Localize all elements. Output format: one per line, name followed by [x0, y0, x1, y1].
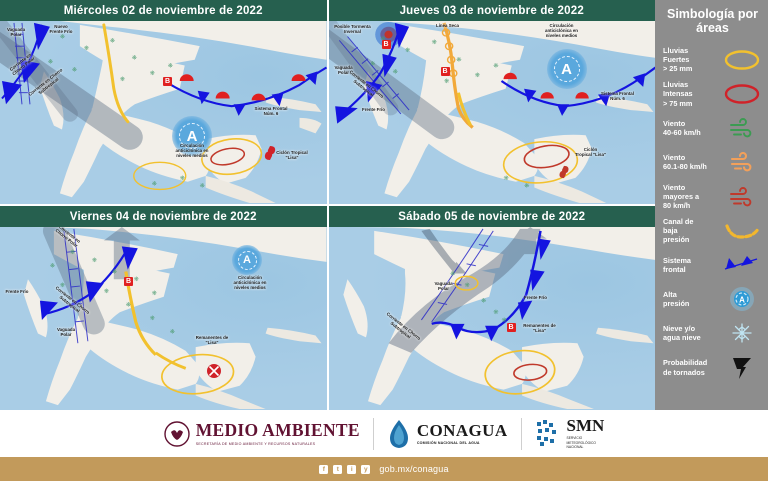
- legend-label: Probabilidad de tornados: [663, 358, 719, 376]
- map-label: Circulación anticiclónica en niveles med…: [224, 275, 276, 291]
- logo-medio-ambiente: MEDIO AMBIENTE SECRETARÍA DE MEDIO AMBIE…: [164, 421, 360, 447]
- panel-title-saturday: Sábado 05 de noviembre de 2022: [329, 206, 656, 227]
- map-label: Vaguada Polar: [429, 281, 459, 291]
- map-label: Posible Tormenta Invernal: [331, 24, 375, 34]
- svg-text:❋: ❋: [456, 57, 461, 64]
- trough-dashed-icon: [722, 217, 762, 245]
- map-canvas-wednesday: ❋❋❋ ❋❋❋ ❋❋❋ ❋❋❋ B A Corriente en Chorro …: [0, 21, 327, 204]
- svg-text:❋: ❋: [431, 39, 436, 46]
- low-pressure-marker-b: B: [441, 67, 450, 76]
- anticyclone-symbol: A: [547, 49, 587, 89]
- eagle-seal-icon: [164, 421, 190, 447]
- wind-orange-icon: [722, 148, 762, 176]
- map-label: Frente Frío: [2, 289, 32, 294]
- tropical-cyclone-icon: [262, 143, 278, 163]
- twitter-icon[interactable]: t: [333, 465, 342, 474]
- svg-text:❋: ❋: [152, 290, 157, 297]
- map-label: Circulación anticiclónica en niveles med…: [535, 23, 589, 39]
- svg-text:❋: ❋: [168, 63, 173, 70]
- map-graphics-thursday: ❋❋❋ ❋❋❋ ❋❋❋ ❋❋: [329, 21, 656, 204]
- map-panel-thursday[interactable]: Jueves 03 de noviembre de 2022: [329, 0, 656, 204]
- map-label: Línea Seca: [433, 23, 463, 28]
- map-canvas-saturday: ❋❋❋ ❋❋ B Vaguada Polar Corriente en Chor…: [329, 227, 656, 410]
- map-label: Remanentes de "Lisa": [188, 335, 236, 345]
- ellipse-red-icon: [722, 80, 762, 108]
- svg-text:❋: ❋: [370, 61, 375, 68]
- weather-forecast-infographic: Miércoles 02 de noviembre de 2022: [0, 0, 768, 481]
- high-pressure-icon: A: [722, 285, 762, 313]
- svg-text:❋: ❋: [120, 76, 125, 83]
- svg-text:❋: ❋: [493, 309, 498, 316]
- map-canvas-thursday: ❋❋❋ ❋❋❋ ❋❋❋ ❋❋ B B A Posible Tormenta: [329, 21, 656, 204]
- svg-text:❋: ❋: [200, 183, 205, 190]
- svg-text:❋: ❋: [104, 288, 109, 295]
- svg-text:❋: ❋: [180, 175, 185, 182]
- legend-label: Alta presión: [663, 290, 719, 308]
- legend-item-viento-80plus[interactable]: Viento mayores a 80 km/h: [663, 180, 762, 214]
- svg-text:❋: ❋: [134, 276, 139, 283]
- anticyclone-symbol: A: [232, 245, 262, 275]
- logo-conagua: CONAGUA COMISIÓN NACIONAL DEL AGUA: [387, 419, 508, 449]
- legend-item-tornados[interactable]: Probabilidad de tornados: [663, 350, 762, 384]
- legend-label: Viento 40-60 km/h: [663, 119, 719, 137]
- legend-item-alta-presion[interactable]: Alta presión A: [663, 282, 762, 316]
- map-label: Frente Frío: [521, 295, 551, 300]
- map-graphics-saturday: ❋❋❋ ❋❋: [329, 227, 656, 410]
- svg-text:❋: ❋: [443, 78, 448, 85]
- map-panel-friday[interactable]: Viernes 04 de noviembre de 2022: [0, 206, 327, 410]
- map-label: Sistema Frontal Núm. 6: [595, 91, 641, 101]
- ellipse-yellow-icon: [722, 46, 762, 74]
- svg-text:❋: ❋: [50, 263, 55, 270]
- footer-logos: MEDIO AMBIENTE SECRETARÍA DE MEDIO AMBIE…: [0, 410, 768, 457]
- panel-title-friday: Viernes 04 de noviembre de 2022: [0, 206, 327, 227]
- logo-divider: [373, 418, 374, 450]
- legend-item-viento-60-80[interactable]: Viento 60.1-80 km/h: [663, 145, 762, 179]
- svg-text:❋: ❋: [72, 66, 77, 73]
- svg-text:❋: ❋: [474, 72, 479, 79]
- legend-item-lluvias-intensas[interactable]: Lluvias Intensas > 75 mm: [663, 77, 762, 111]
- map-label: Nuevo Frente Frío: [44, 24, 78, 34]
- map-canvas-friday: ❋❋❋ ❋❋❋ ❋❋❋ ❋❋ B A Corriente en Chorro P…: [0, 227, 327, 410]
- conagua-subtitle: COMISIÓN NACIONAL DEL AGUA: [417, 441, 508, 445]
- map-label: Frente Frío: [359, 107, 389, 112]
- map-label: Circulación anticiclónica en niveles med…: [163, 143, 221, 159]
- facebook-icon[interactable]: f: [319, 465, 328, 474]
- legend-label: Sistema frontal: [663, 256, 719, 274]
- cold-front-icon: [722, 251, 762, 279]
- panel-title-wednesday: Miércoles 02 de noviembre de 2022: [0, 0, 327, 21]
- map-graphics-friday: ❋❋❋ ❋❋❋ ❋❋❋ ❋❋: [0, 227, 327, 410]
- map-label: Vaguada Polar: [2, 27, 30, 37]
- logo-divider: [521, 418, 522, 450]
- svg-text:❋: ❋: [450, 271, 455, 278]
- svg-text:❋: ❋: [392, 68, 397, 75]
- website-url[interactable]: gob.mx/conagua: [379, 464, 448, 474]
- svg-text:❋: ❋: [112, 269, 117, 276]
- legend-label: Lluvias Intensas > 75 mm: [663, 80, 719, 107]
- svg-text:❋: ❋: [170, 329, 175, 336]
- svg-text:❋: ❋: [126, 301, 131, 308]
- svg-text:❋: ❋: [84, 45, 89, 52]
- legend-label: Viento mayores a 80 km/h: [663, 183, 719, 210]
- snowflake-icon: [722, 319, 762, 347]
- maps-grid: Miércoles 02 de noviembre de 2022: [0, 0, 655, 410]
- smn-title: SMN: [567, 417, 605, 434]
- map-panel-wednesday[interactable]: Miércoles 02 de noviembre de 2022: [0, 0, 327, 204]
- tornado-icon: [722, 354, 762, 382]
- low-pressure-marker-b: B: [507, 323, 516, 332]
- svg-text:❋: ❋: [150, 315, 155, 322]
- smn-glyph-icon: [535, 419, 561, 447]
- map-label: Sistema Frontal Núm. 6: [248, 106, 294, 116]
- legend-item-viento-40-60[interactable]: Viento 40-60 km/h: [663, 111, 762, 145]
- low-pressure-marker-b: B: [163, 77, 172, 86]
- panel-title-thursday: Jueves 03 de noviembre de 2022: [329, 0, 656, 21]
- legend-title: Simbología por áreas: [663, 7, 762, 36]
- map-label: Ciclón Tropical "Lisa": [569, 147, 613, 157]
- legend-panel: Simbología por áreas Lluvias Fuertes > 2…: [655, 0, 768, 410]
- wind-green-icon: [722, 114, 762, 142]
- svg-text:❋: ❋: [60, 34, 65, 41]
- legend-label: Canal de baja presión: [663, 217, 719, 244]
- map-label: Vaguada Polar: [52, 327, 80, 337]
- svg-text:❋: ❋: [110, 37, 115, 44]
- bottom-social-bar: f t i y gob.mx/conagua: [0, 457, 768, 481]
- map-panel-saturday[interactable]: Sábado 05 de noviembre de 2022: [329, 206, 656, 410]
- svg-text:❋: ❋: [404, 47, 409, 54]
- svg-text:❋: ❋: [480, 298, 485, 305]
- svg-text:❋: ❋: [524, 183, 529, 190]
- low-pressure-marker-b: B: [124, 277, 133, 286]
- svg-text:❋: ❋: [132, 55, 137, 62]
- svg-text:❋: ❋: [152, 181, 157, 188]
- legend-item-lluvias-fuertes[interactable]: Lluvias Fuertes > 25 mm: [663, 43, 762, 77]
- remnant-low-icon: [206, 363, 222, 379]
- anticyclone-ring: [238, 251, 257, 270]
- tropical-cyclone-icon: [557, 163, 571, 181]
- svg-text:❋: ❋: [501, 317, 506, 324]
- svg-text:❋: ❋: [48, 59, 53, 66]
- map-label: Remanentes de "Lisa": [515, 323, 565, 333]
- low-pressure-marker-b: B: [382, 40, 391, 49]
- svg-text:❋: ❋: [92, 257, 97, 264]
- svg-text:❋: ❋: [150, 70, 155, 77]
- svg-text:❋: ❋: [70, 249, 75, 256]
- anticyclone-ring: [554, 56, 580, 82]
- youtube-icon[interactable]: y: [361, 465, 370, 474]
- svg-text:❋: ❋: [503, 175, 508, 182]
- svg-text:A: A: [739, 296, 745, 305]
- svg-text:❋: ❋: [464, 282, 469, 289]
- water-drop-icon: [387, 419, 411, 449]
- legend-label: Lluvias Fuertes > 25 mm: [663, 46, 719, 73]
- medio-ambiente-subtitle: SECRETARÍA DE MEDIO AMBIENTE Y RECURSOS …: [196, 442, 360, 446]
- svg-text:❋: ❋: [493, 63, 498, 70]
- logo-smn: SMN SERVICIO METEOROLÓGICO NACIONAL: [535, 417, 605, 450]
- legend-item-sistema-frontal[interactable]: Sistema frontal: [663, 248, 762, 282]
- wind-red-icon: [722, 183, 762, 211]
- instagram-icon[interactable]: i: [347, 465, 356, 474]
- smn-subtitle: SERVICIO METEOROLÓGICO NACIONAL: [567, 436, 605, 450]
- legend-item-canal-baja-presion[interactable]: Canal de baja presión: [663, 214, 762, 248]
- conagua-title: CONAGUA: [417, 422, 508, 439]
- legend-label: Nieve y/o agua nieve: [663, 324, 719, 342]
- medio-ambiente-title: MEDIO AMBIENTE: [196, 422, 360, 440]
- legend-label: Viento 60.1-80 km/h: [663, 153, 719, 171]
- legend-item-nieve[interactable]: Nieve y/o agua nieve: [663, 316, 762, 350]
